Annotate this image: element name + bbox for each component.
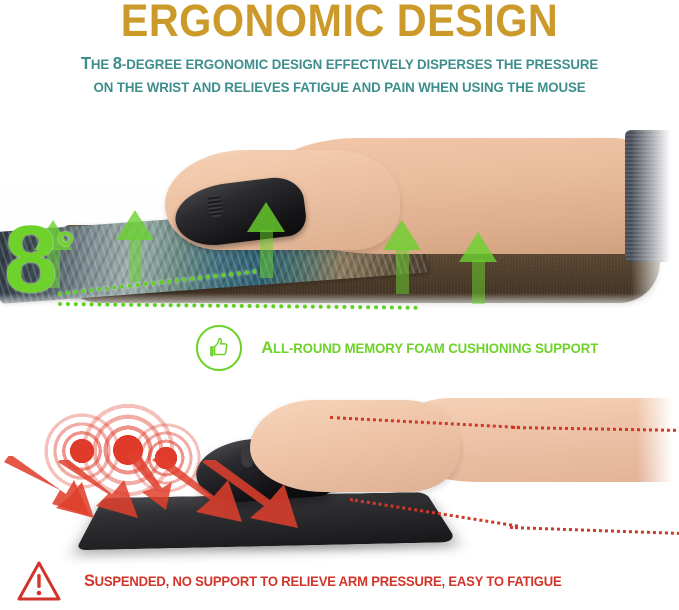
support-arrow-head	[459, 232, 497, 262]
ergonomic-wrist-rest-photo	[0, 120, 679, 315]
thumbs-up-icon	[196, 325, 242, 371]
right-fade	[637, 390, 679, 570]
support-arrow-head	[383, 220, 421, 250]
angle-badge-value: 8	[4, 206, 54, 313]
good-caption-text: ALL-ROUND MEMORY FOAM CUSHIONING SUPPORT	[261, 338, 598, 358]
support-arrow-stem	[129, 238, 142, 282]
support-arrow-stem	[396, 248, 409, 294]
support-arrow-stem	[260, 230, 273, 278]
header: ERGONOMIC DESIGN THE 8-DEGREE ERGONOMIC …	[0, 0, 679, 115]
degree-symbol-icon: °	[56, 222, 71, 274]
angle-badge: 8°	[4, 212, 72, 308]
subtitle-line-1: THE 8-DEGREE ERGONOMIC DESIGN EFFECTIVEL…	[17, 52, 662, 76]
support-arrow-head	[116, 210, 154, 240]
good-caption: ALL-ROUND MEMORY FOAM CUSHIONING SUPPORT	[196, 326, 603, 370]
flat-mousepad-photo	[0, 390, 679, 570]
pressure-arrow	[198, 460, 314, 536]
good-caption-lead: A	[261, 338, 273, 357]
infographic-page: ERGONOMIC DESIGN THE 8-DEGREE ERGONOMIC …	[0, 0, 679, 610]
subtitle-line-1-tail: -DEGREE ERGONOMIC DESIGN EFFECTIVELY DIS…	[122, 56, 598, 72]
bad-caption-lead: S	[84, 571, 95, 590]
page-subtitle: THE 8-DEGREE ERGONOMIC DESIGN EFFECTIVEL…	[17, 52, 662, 99]
support-arrow-stem	[472, 260, 485, 304]
bad-caption-rest: USPENDED, NO SUPPORT TO RELIEVE ARM PRES…	[95, 574, 562, 589]
right-fade	[631, 120, 679, 315]
support-arrow-head	[247, 202, 285, 232]
warning-triangle-icon	[16, 560, 62, 602]
bad-caption: SUSPENDED, NO SUPPORT TO RELIEVE ARM PRE…	[16, 558, 571, 604]
subtitle-line-1-rest: HE	[91, 56, 113, 72]
page-title: ERGONOMIC DESIGN	[27, 0, 652, 44]
bad-caption-text: SUSPENDED, NO SUPPORT TO RELIEVE ARM PRE…	[84, 571, 562, 591]
good-caption-rest: LL-ROUND MEMORY FOAM CUSHIONING SUPPORT	[273, 341, 598, 356]
subtitle-line-2: ON THE WRIST AND RELIEVES FATIGUE AND PA…	[17, 76, 662, 99]
subtitle-line-1-lead: T	[81, 53, 91, 73]
